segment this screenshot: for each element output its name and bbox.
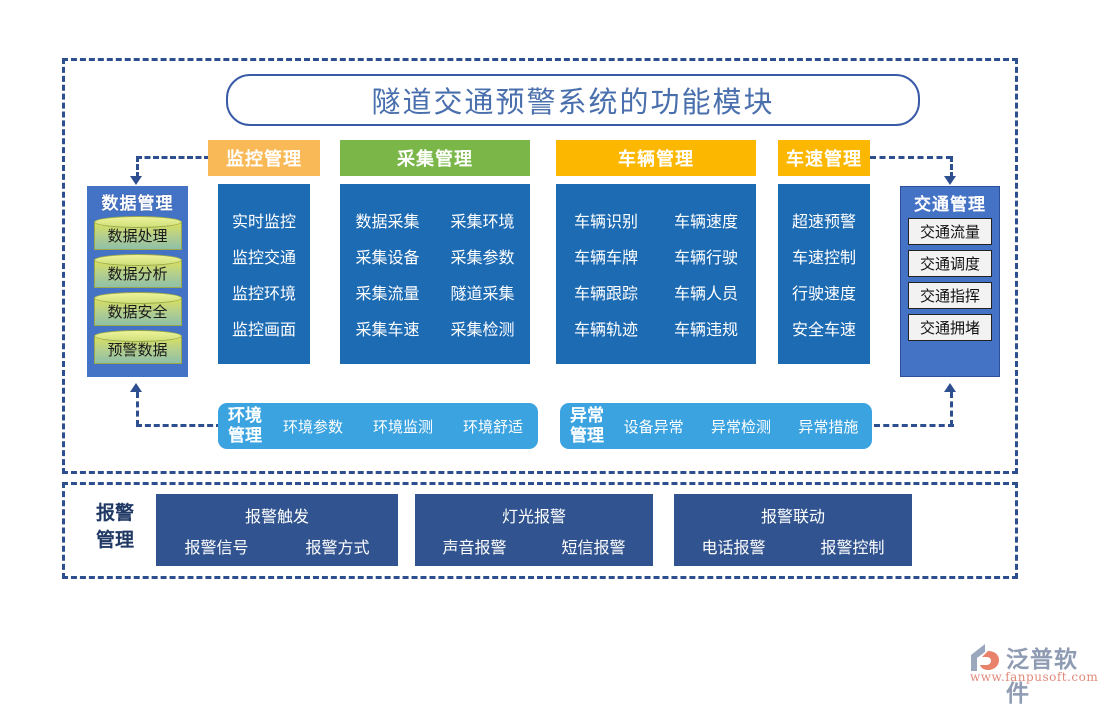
bar-environment-management[interactable]: 环境 管理 环境参数 环境监测 环境舒适 <box>218 403 538 449</box>
panel-item[interactable]: 车辆行驶 <box>674 244 738 268</box>
panel-item[interactable]: 采集设备 <box>355 244 419 268</box>
arrow-up-to-traffic-management <box>944 383 956 392</box>
data-cylinder-label: 数据安全 <box>94 301 182 325</box>
alarm-card-title: 报警联动 <box>761 503 825 527</box>
panel-row: 车速控制 <box>778 238 870 274</box>
alarm-item[interactable]: 电话报警 <box>701 534 765 558</box>
data-cylinder-label: 数据处理 <box>94 225 182 249</box>
data-management-box[interactable]: 数据管理 数据处理 数据分析 数据安全 预警数据 <box>87 186 188 377</box>
panel-row: 车辆轨迹 车辆违规 <box>556 310 756 346</box>
panel-item[interactable]: 车辆速度 <box>674 208 738 232</box>
connector-env-to-data-v <box>136 392 139 426</box>
panel-item[interactable]: 车速控制 <box>792 244 856 268</box>
panel-item[interactable]: 车辆人员 <box>674 280 738 304</box>
bar-environment-items: 环境参数 环境监测 环境舒适 <box>268 416 538 437</box>
panel-item[interactable]: 数据采集 <box>355 208 419 232</box>
panel-item[interactable]: 采集环境 <box>450 208 514 232</box>
panel-item[interactable]: 车辆车牌 <box>574 244 638 268</box>
alarm-card-linkage[interactable]: 报警联动 电话报警 报警控制 <box>674 494 912 566</box>
arrow-down-to-data-management <box>130 176 142 185</box>
traffic-management-box[interactable]: 交通管理 交通流量 交通调度 交通指挥 交通拥堵 <box>900 186 1000 377</box>
panel-item[interactable]: 采集车速 <box>355 316 419 340</box>
panel-item[interactable]: 行驶速度 <box>792 280 856 304</box>
panel-row: 采集车速 采集检测 <box>340 310 530 346</box>
header-speed-management[interactable]: 车速管理 <box>778 140 870 176</box>
panel-row: 行驶速度 <box>778 274 870 310</box>
bar-item[interactable]: 环境舒适 <box>463 416 523 437</box>
header-vehicle-management[interactable]: 车辆管理 <box>556 140 756 176</box>
panel-row: 实时监控 <box>218 202 310 238</box>
bar-item[interactable]: 异常措施 <box>798 416 858 437</box>
panel-row: 安全车速 <box>778 310 870 346</box>
bar-abnormal-management[interactable]: 异常 管理 设备异常 异常检测 异常措施 <box>560 403 872 449</box>
connector-abn-to-traffic-h <box>874 424 954 427</box>
alarm-card-title: 灯光报警 <box>502 503 566 527</box>
alarm-item[interactable]: 报警信号 <box>184 534 248 558</box>
panel-item[interactable]: 车辆违规 <box>674 316 738 340</box>
connector-speed-to-traffic-v <box>950 156 953 178</box>
alarm-management-label: 报警 管理 <box>72 500 158 554</box>
panel-item[interactable]: 隧道采集 <box>450 280 514 304</box>
panel-item[interactable]: 车辆跟踪 <box>574 280 638 304</box>
panel-item[interactable]: 实时监控 <box>232 208 296 232</box>
data-management-title: 数据管理 <box>102 189 174 214</box>
panel-row: 车辆识别 车辆速度 <box>556 202 756 238</box>
panel-item[interactable]: 采集流量 <box>355 280 419 304</box>
arrow-down-to-traffic-management <box>944 176 956 185</box>
panel-collection-management[interactable]: 数据采集 采集环境 采集设备 采集参数 采集流量 隧道采集 采集车速 采集检测 <box>340 184 530 364</box>
panel-row: 车辆车牌 车辆行驶 <box>556 238 756 274</box>
traffic-management-title: 交通管理 <box>914 190 986 215</box>
panel-row: 监控画面 <box>218 310 310 346</box>
company-logo: 泛普软件 www.fanpusoft.com <box>968 640 1092 688</box>
data-cylinder-label: 预警数据 <box>94 339 182 363</box>
traffic-chip-2[interactable]: 交通调度 <box>908 250 992 277</box>
diagram-title-text: 隧道交通预警系统的功能模块 <box>371 79 774 121</box>
connector-speed-to-traffic-h <box>870 156 952 159</box>
panel-row: 采集流量 隧道采集 <box>340 274 530 310</box>
traffic-chip-1[interactable]: 交通流量 <box>908 218 992 245</box>
alarm-item[interactable]: 短信报警 <box>561 534 625 558</box>
alarm-card-title: 报警触发 <box>245 503 309 527</box>
data-cylinder-label: 数据分析 <box>94 263 182 287</box>
panel-item[interactable]: 监控交通 <box>232 244 296 268</box>
alarm-item[interactable]: 声音报警 <box>442 534 506 558</box>
connector-env-to-data-h <box>136 424 222 427</box>
panel-item[interactable]: 车辆轨迹 <box>574 316 638 340</box>
panel-monitor-management[interactable]: 实时监控 监控交通 监控环境 监控画面 <box>218 184 310 364</box>
logo-url-text: www.fanpusoft.com <box>970 670 1098 684</box>
alarm-card-items: 电话报警 报警控制 <box>674 534 912 558</box>
diagram-canvas: 隧道交通预警系统的功能模块 数据管理 数据处理 数据分析 数据安全 <box>0 0 1100 700</box>
panel-item[interactable]: 超速预警 <box>792 208 856 232</box>
panel-item[interactable]: 采集参数 <box>450 244 514 268</box>
bar-item[interactable]: 异常检测 <box>711 416 771 437</box>
arrow-up-to-data-management <box>130 383 142 392</box>
alarm-card-items: 报警信号 报警方式 <box>156 534 398 558</box>
alarm-card-items: 声音报警 短信报警 <box>415 534 653 558</box>
panel-row: 车辆跟踪 车辆人员 <box>556 274 756 310</box>
bar-item[interactable]: 环境监测 <box>373 416 433 437</box>
data-cylinder-1[interactable]: 数据处理 <box>94 216 182 252</box>
alarm-item[interactable]: 报警方式 <box>305 534 369 558</box>
connector-monitor-to-data-h <box>136 156 210 159</box>
alarm-item[interactable]: 报警控制 <box>820 534 884 558</box>
header-collection-management[interactable]: 采集管理 <box>340 140 530 176</box>
alarm-card-light[interactable]: 灯光报警 声音报警 短信报警 <box>415 494 653 566</box>
diagram-title: 隧道交通预警系统的功能模块 <box>226 74 920 126</box>
traffic-chip-3[interactable]: 交通指挥 <box>908 282 992 309</box>
panel-vehicle-management[interactable]: 车辆识别 车辆速度 车辆车牌 车辆行驶 车辆跟踪 车辆人员 车辆轨迹 车辆违规 <box>556 184 756 364</box>
bar-abnormal-title: 异常 管理 <box>560 406 610 446</box>
panel-speed-management[interactable]: 超速预警 车速控制 行驶速度 安全车速 <box>778 184 870 364</box>
header-monitor-management[interactable]: 监控管理 <box>208 140 320 176</box>
data-cylinder-2[interactable]: 数据分析 <box>94 254 182 290</box>
panel-row: 监控交通 <box>218 238 310 274</box>
connector-monitor-to-data-v <box>136 156 139 178</box>
panel-item[interactable]: 车辆识别 <box>574 208 638 232</box>
data-cylinder-4[interactable]: 预警数据 <box>94 330 182 366</box>
connector-abn-to-traffic-v <box>950 392 953 426</box>
bar-environment-title: 环境 管理 <box>218 406 268 446</box>
data-cylinder-3[interactable]: 数据安全 <box>94 292 182 328</box>
panel-row: 采集设备 采集参数 <box>340 238 530 274</box>
panel-item[interactable]: 监控画面 <box>232 316 296 340</box>
panel-row: 超速预警 <box>778 202 870 238</box>
panel-row: 监控环境 <box>218 274 310 310</box>
traffic-chip-4[interactable]: 交通拥堵 <box>908 314 992 341</box>
bar-abnormal-items: 设备异常 异常检测 异常措施 <box>610 416 872 437</box>
panel-item[interactable]: 监控环境 <box>232 280 296 304</box>
alarm-card-trigger[interactable]: 报警触发 报警信号 报警方式 <box>156 494 398 566</box>
panel-item[interactable]: 安全车速 <box>792 316 856 340</box>
bar-item[interactable]: 设备异常 <box>624 416 684 437</box>
bar-item[interactable]: 环境参数 <box>283 416 343 437</box>
panel-row: 数据采集 采集环境 <box>340 202 530 238</box>
panel-item[interactable]: 采集检测 <box>450 316 514 340</box>
